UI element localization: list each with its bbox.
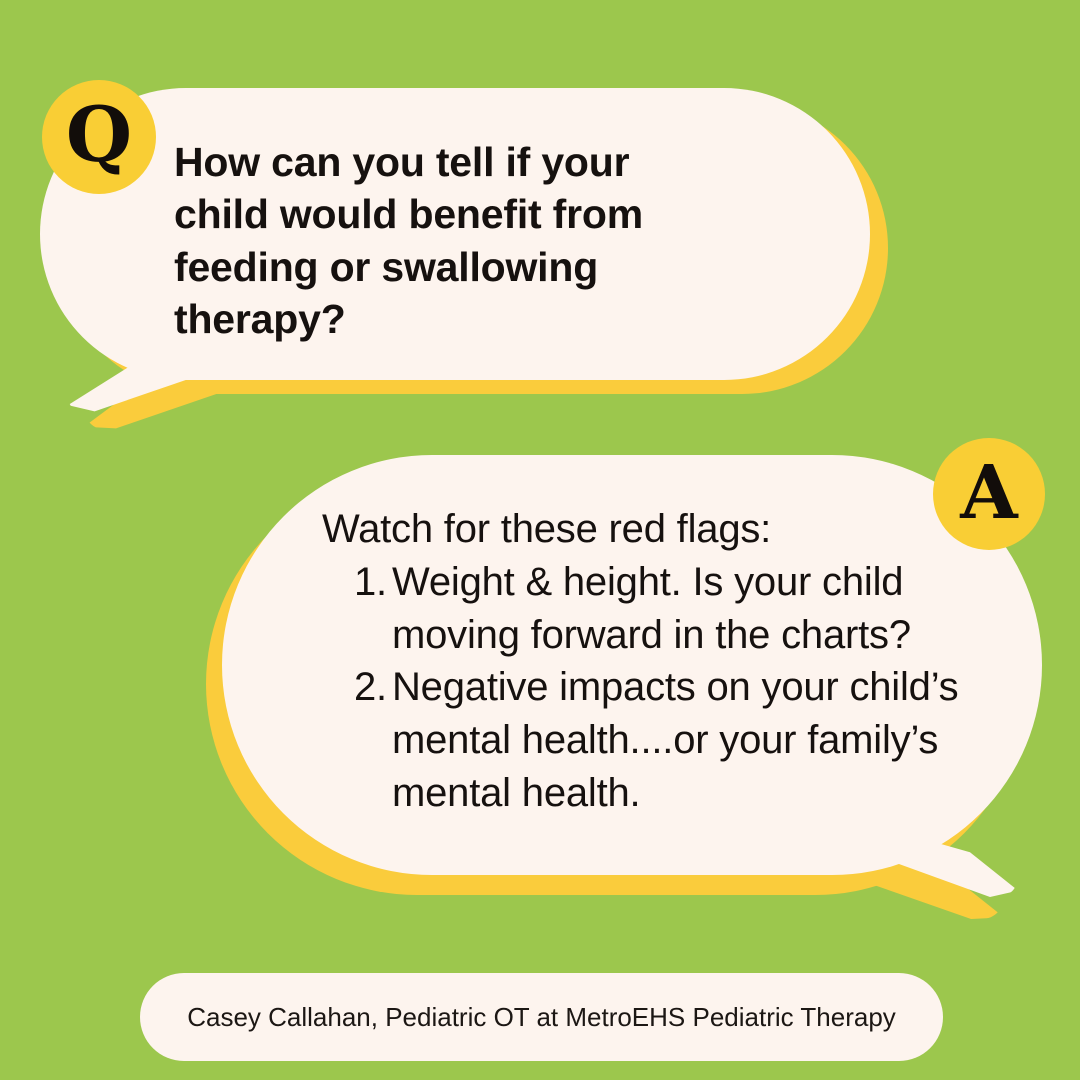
answer-badge: A [933, 438, 1045, 550]
question-bubble: How can you tell if your child would ben… [40, 88, 870, 433]
answer-text-block: Watch for these red flags: 1. Weight & h… [316, 503, 996, 820]
question-text: How can you tell if your child would ben… [174, 136, 714, 346]
list-item-number: 2. [354, 661, 392, 714]
answer-intro-text: Watch for these red flags: [322, 503, 996, 556]
qa-social-card: How can you tell if your child would ben… [0, 0, 1080, 1080]
list-item: 1. Weight & height. Is your child moving… [354, 556, 996, 662]
list-item-text: Weight & height. Is your child moving fo… [392, 556, 996, 662]
list-item-number: 1. [354, 556, 392, 609]
footer-caption-pill: Casey Callahan, Pediatric OT at MetroEHS… [140, 973, 943, 1061]
answer-red-flag-list: 1. Weight & height. Is your child moving… [316, 556, 996, 820]
list-item-text: Negative impacts on your child’s mental … [392, 661, 996, 819]
footer-caption-text: Casey Callahan, Pediatric OT at MetroEHS… [187, 1002, 896, 1033]
list-item: 2. Negative impacts on your child’s ment… [354, 661, 996, 819]
question-badge: Q [42, 80, 156, 194]
question-badge-letter: Q [66, 97, 132, 173]
answer-badge-letter: A [960, 456, 1017, 530]
answer-bubble: Watch for these red flags: 1. Weight & h… [206, 455, 1046, 915]
